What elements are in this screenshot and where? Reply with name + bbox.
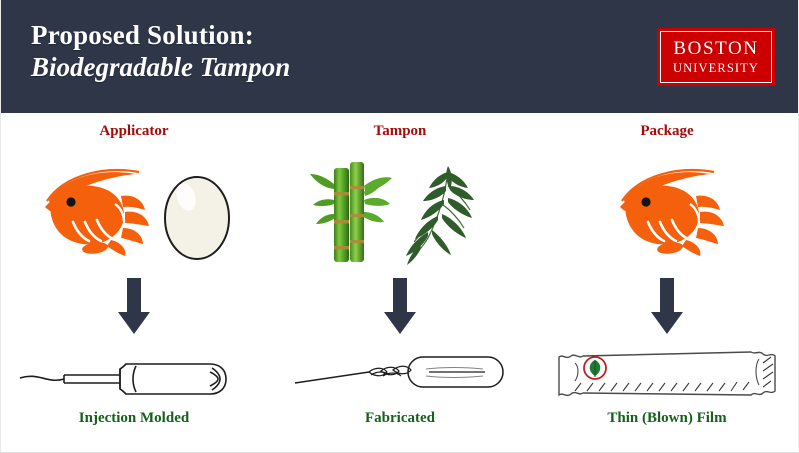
column-footer-tampon: Fabricated — [267, 410, 533, 427]
boston-university-logo: BOSTON UNIVERSITY — [657, 28, 775, 86]
applicator-illustration — [14, 344, 254, 404]
source-materials-tampon — [267, 151, 533, 273]
shrimp-icon — [31, 160, 153, 264]
logo-text-boston: BOSTON — [673, 39, 758, 58]
arrow-tampon — [267, 276, 533, 338]
column-heading-package: Package — [534, 123, 799, 140]
hemp-plant-icon — [394, 156, 492, 268]
product-tampon — [267, 341, 533, 407]
egg-icon — [153, 160, 237, 264]
column-applicator: Applicator — [1, 113, 267, 453]
logo-text-university: UNIVERSITY — [673, 62, 759, 75]
arrow-package — [534, 276, 799, 338]
title-line-secondary: Biodegradable Tampon — [31, 52, 290, 82]
slide-canvas: Proposed Solution: Biodegradable Tampon … — [0, 0, 799, 453]
column-heading-tampon: Tampon — [267, 123, 533, 140]
title-line-primary: Proposed Solution: — [31, 20, 290, 50]
product-package — [534, 341, 799, 407]
column-tampon: Tampon — [267, 113, 533, 453]
column-footer-package: Thin (Blown) Film — [534, 410, 799, 427]
eco-leaf-badge — [584, 357, 606, 379]
column-heading-applicator: Applicator — [1, 123, 267, 140]
tampon-illustration — [293, 345, 507, 403]
down-arrow-icon — [116, 278, 152, 336]
package-illustration — [545, 341, 789, 407]
bamboo-icon — [308, 156, 394, 268]
shrimp-icon — [606, 160, 728, 264]
slide-header: Proposed Solution: Biodegradable Tampon … — [1, 0, 799, 113]
product-applicator — [1, 341, 267, 407]
source-materials-applicator — [1, 151, 267, 273]
down-arrow-icon — [649, 278, 685, 336]
page-title: Proposed Solution: Biodegradable Tampon — [31, 20, 290, 82]
column-package: Package — [534, 113, 799, 453]
arrow-applicator — [1, 276, 267, 338]
source-materials-package — [534, 151, 799, 273]
logo-inner-frame: BOSTON UNIVERSITY — [660, 31, 772, 83]
column-footer-applicator: Injection Molded — [1, 410, 267, 427]
down-arrow-icon — [382, 278, 418, 336]
